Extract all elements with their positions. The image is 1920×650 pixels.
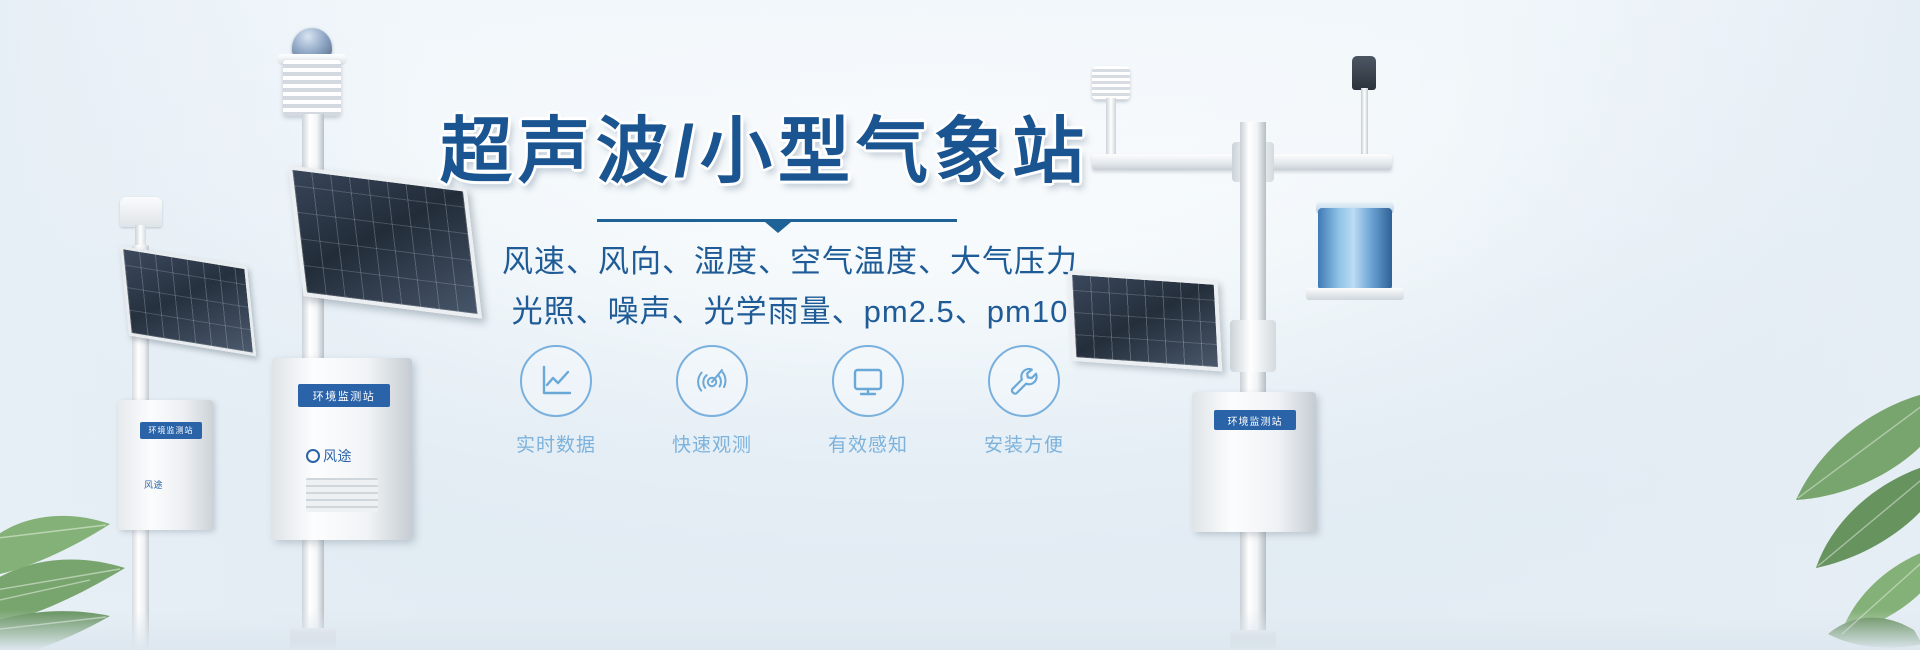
line-chart-icon [536, 361, 576, 401]
product-banner: 环境监测站 风途 环境监测站 风途 超声波/小型气象站 风速、风向、湿度、空气温… [0, 0, 1920, 650]
equipment-nameplate: 环境监测站 [140, 422, 202, 439]
tropical-leaf-right-icon [1640, 350, 1920, 650]
sensor-stem [1106, 98, 1116, 156]
mast-collar-lower [1230, 320, 1276, 372]
feature-list: 实时数据 快速观测 [440, 345, 1140, 457]
feature-item-easy-installation[interactable]: 安装方便 [974, 345, 1074, 457]
feature-label: 实时数据 [516, 430, 596, 457]
page-title: 超声波/小型气象站 [440, 116, 1140, 188]
mounting-mast [1240, 122, 1266, 650]
feature-label: 安装方便 [984, 430, 1064, 457]
feature-label: 有效感知 [828, 430, 908, 457]
equipment-enclosure: 环境监测站 [1192, 392, 1316, 532]
radar-signal-icon [692, 361, 732, 401]
ground-fade [0, 610, 1920, 650]
solar-panel [1068, 271, 1223, 372]
anemometer-stem [1361, 88, 1368, 156]
wrench-icon [1004, 361, 1044, 401]
equipment-nameplate: 环境监测站 [1214, 410, 1296, 430]
brand-text: 风途 [323, 446, 352, 466]
sensor-neck [135, 225, 146, 247]
feature-item-realtime-data[interactable]: 实时数据 [506, 345, 606, 457]
subtitle-line-2: 光照、噪声、光学雨量、pm2.5、pm10 [440, 286, 1140, 331]
monitor-icon [848, 361, 888, 401]
feature-icon-circle [988, 345, 1060, 417]
weather-station-right: 环境监测站 [1070, 50, 1430, 650]
anemometer-sensor-icon [1352, 56, 1376, 90]
feature-item-effective-sensing[interactable]: 有效感知 [818, 345, 918, 457]
enclosure-vent [306, 478, 378, 512]
rain-gauge-shelf [1306, 288, 1404, 300]
radiation-shield-sensor-icon [120, 197, 162, 227]
equipment-enclosure: 环境监测站 风途 [272, 358, 412, 540]
brand-logo-icon [306, 449, 320, 463]
ultrasonic-dome-sensor-icon [292, 28, 332, 56]
feature-icon-circle [832, 345, 904, 417]
feature-label: 快速观测 [672, 430, 752, 457]
radiation-shield-stack [283, 60, 341, 116]
subtitle-line-1: 风速、风向、湿度、空气温度、大气压力 [440, 236, 1140, 281]
rain-gauge-icon [1318, 208, 1392, 290]
brand-label: 风途 [306, 446, 352, 466]
feature-item-fast-observation[interactable]: 快速观测 [662, 345, 762, 457]
title-divider [597, 219, 957, 235]
divider-arrow-icon [765, 222, 791, 233]
radiation-shield-sensor-icon [1092, 66, 1130, 100]
equipment-nameplate: 环境监测站 [298, 384, 390, 407]
feature-icon-circle [676, 345, 748, 417]
feature-icon-circle [520, 345, 592, 417]
